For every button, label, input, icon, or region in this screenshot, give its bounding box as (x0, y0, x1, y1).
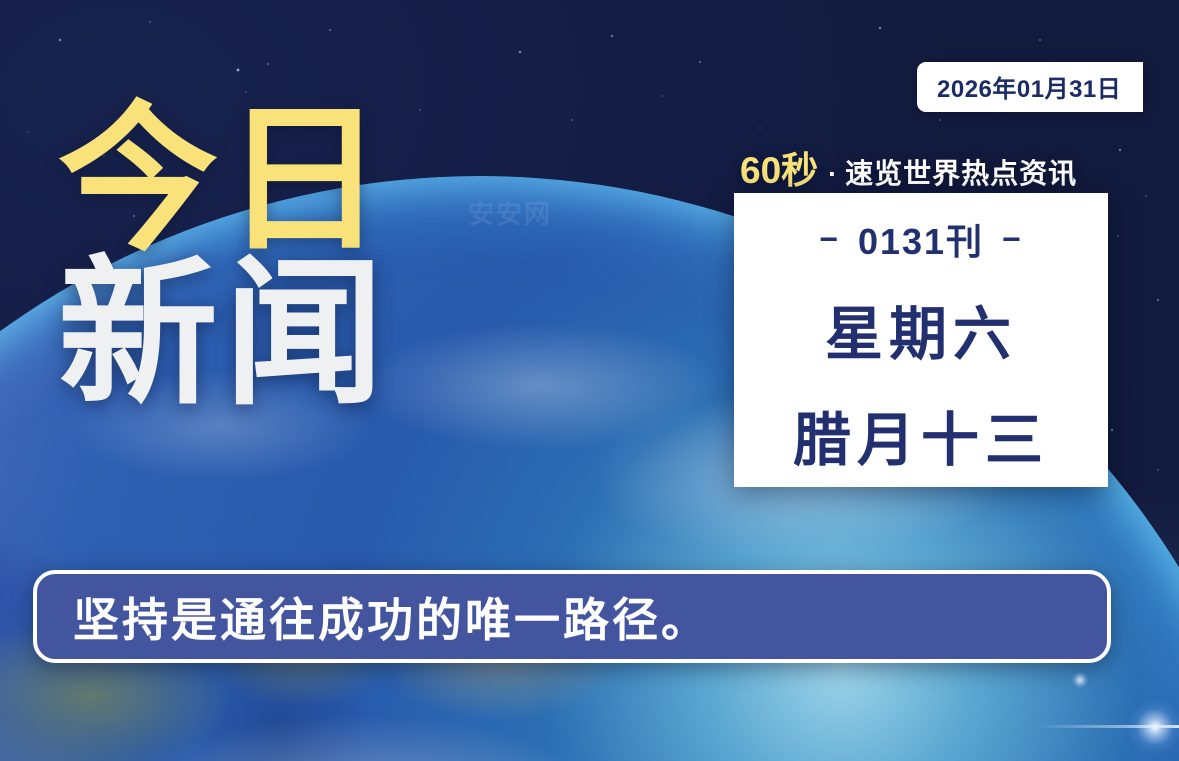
poster-title: 今日 新闻 (58, 104, 390, 410)
issue-dash-right: − (1002, 221, 1023, 258)
issue-row: − 0131刊 − (819, 213, 1022, 265)
tagline: 60秒 · 速览世界热点资讯 (740, 140, 1077, 194)
tagline-seconds: 60秒 (740, 140, 818, 194)
issue-number: 0131刊 (858, 213, 984, 265)
quote-bar: 坚持是通往成功的唯一路径。 (33, 570, 1111, 663)
issue-dash-left: − (819, 221, 840, 258)
news-poster: 安安网 2026年01月31日 今日 新闻 60秒 · 速览世界热点资讯 − 0… (0, 0, 1179, 761)
weekday-label: 星期六 (825, 287, 1017, 371)
date-badge: 2026年01月31日 (917, 62, 1143, 112)
title-line-top: 今日 (58, 104, 390, 256)
issue-info-card: − 0131刊 − 星期六 腊月十三 (734, 193, 1108, 487)
tagline-separator: · (828, 159, 837, 190)
star-glow-small (1072, 672, 1088, 688)
site-watermark: 安安网 (468, 194, 552, 231)
tagline-text: 速览世界热点资讯 (845, 152, 1077, 192)
quote-text: 坚持是通往成功的唯一路径。 (37, 584, 710, 650)
lunar-date-label: 腊月十三 (793, 393, 1049, 477)
title-line-bottom: 新闻 (58, 258, 390, 410)
